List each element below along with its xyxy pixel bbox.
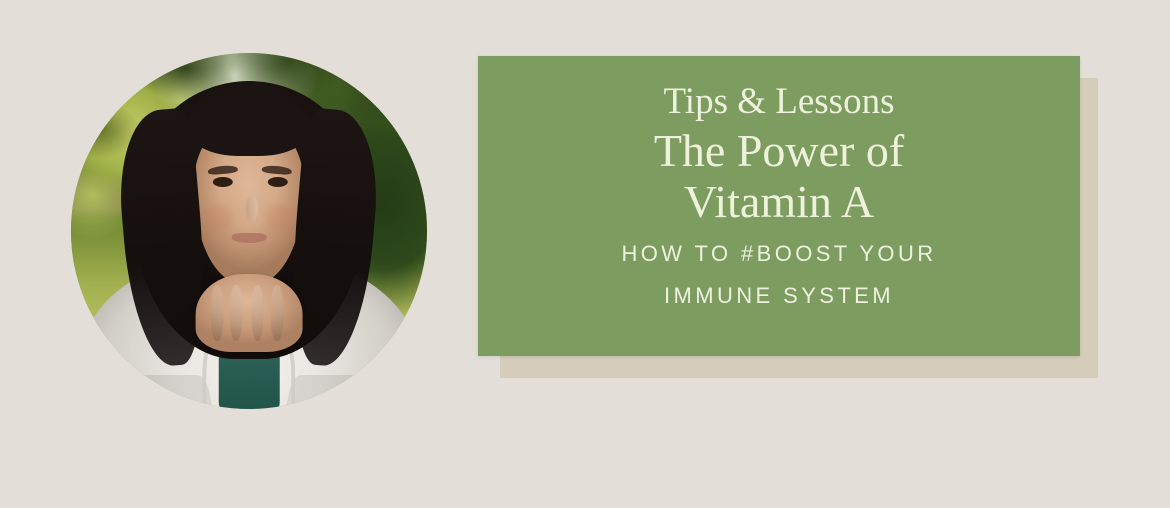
title-card-content: Tips & Lessons The Power of Vitamin A HO…	[478, 56, 1080, 356]
card-subtitle-line-1: HOW TO #BOOST YOUR	[621, 233, 936, 275]
eye-left	[213, 177, 233, 187]
finger	[270, 285, 283, 341]
hair-front	[188, 96, 309, 157]
finger	[211, 285, 224, 341]
eyebrow-right	[262, 164, 292, 175]
card-subtitle-line-2: IMMUNE SYSTEM	[664, 275, 894, 317]
nose	[246, 196, 258, 223]
mouth	[231, 233, 266, 243]
slide-canvas: Tips & Lessons The Power of Vitamin A HO…	[0, 0, 1170, 508]
photo-background-park	[71, 53, 427, 409]
card-title-line-2: Vitamin A	[684, 178, 874, 227]
green-title-card: Tips & Lessons The Power of Vitamin A HO…	[478, 56, 1080, 356]
card-title-line-1: The Power of	[654, 127, 904, 176]
cheek-left	[205, 204, 234, 231]
clasped-hands	[196, 274, 303, 352]
finger	[251, 285, 264, 341]
eye-right	[268, 177, 288, 187]
cheek-right	[264, 204, 293, 231]
eyebrow-left	[208, 164, 238, 175]
circular-portrait-photo	[71, 53, 427, 409]
finger	[230, 285, 243, 341]
card-kicker: Tips & Lessons	[664, 82, 895, 121]
